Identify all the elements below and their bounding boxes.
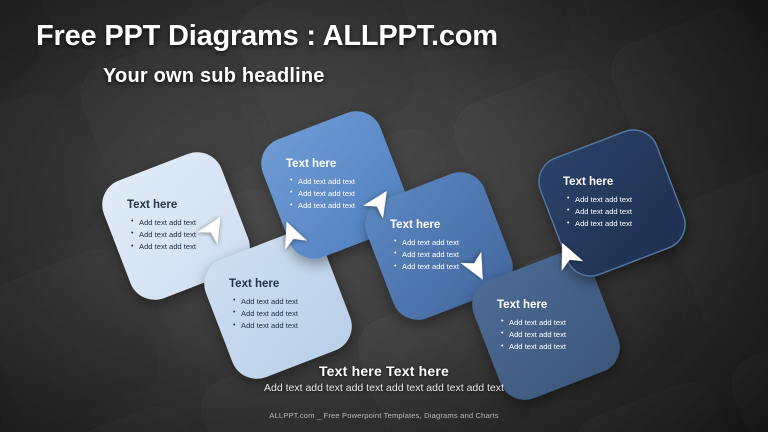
list-item: Add text add text [233, 296, 333, 308]
node-6-bullets: Add text add text Add text add text Add … [567, 194, 667, 231]
list-item: Add text add text [501, 317, 601, 329]
list-item: Add text add text [567, 218, 667, 230]
node-2-bullets: Add text add text Add text add text Add … [233, 296, 333, 333]
node-5-bullets: Add text add text Add text add text Add … [501, 317, 601, 354]
list-item: Add text add text [501, 341, 601, 353]
caption-subtext: Add text add text add text add text add … [0, 382, 768, 394]
caption-heading: Text here Text here [0, 363, 768, 379]
list-item: Add text add text [233, 308, 333, 320]
list-item: Add text add text [567, 206, 667, 218]
slide-canvas: Free PPT Diagrams : ALLPPT.com Your own … [0, 0, 768, 432]
node-1-heading: Text here [127, 199, 231, 211]
node-2-heading: Text here [229, 278, 333, 290]
slide-footer: ALLPPT.com _ Free Powerpoint Templates, … [0, 411, 768, 420]
node-5-heading: Text here [497, 299, 601, 311]
list-item: Add text add text [233, 320, 333, 332]
bottom-caption: Text here Text here Add text add text ad… [0, 363, 768, 394]
node-6-heading: Text here [563, 176, 667, 188]
list-item: Add text add text [567, 194, 667, 206]
node-3-heading: Text here [286, 158, 390, 170]
list-item: Add text add text [501, 329, 601, 341]
node-4-heading: Text here [390, 219, 494, 231]
